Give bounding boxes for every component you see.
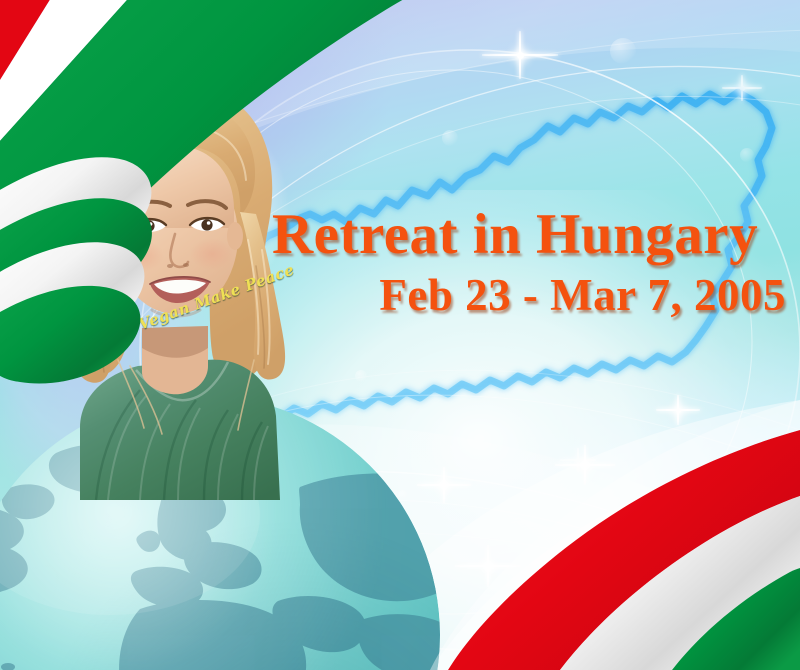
headline-block: Retreat in Hungary Feb 23 - Mar 7, 2005 [272, 206, 792, 318]
hungary-flag-ribbons [0, 0, 800, 670]
poster: Be Vegan Make Peace [0, 0, 800, 670]
page-title: Retreat in Hungary [272, 206, 792, 263]
event-dates: Feb 23 - Mar 7, 2005 [272, 273, 792, 318]
